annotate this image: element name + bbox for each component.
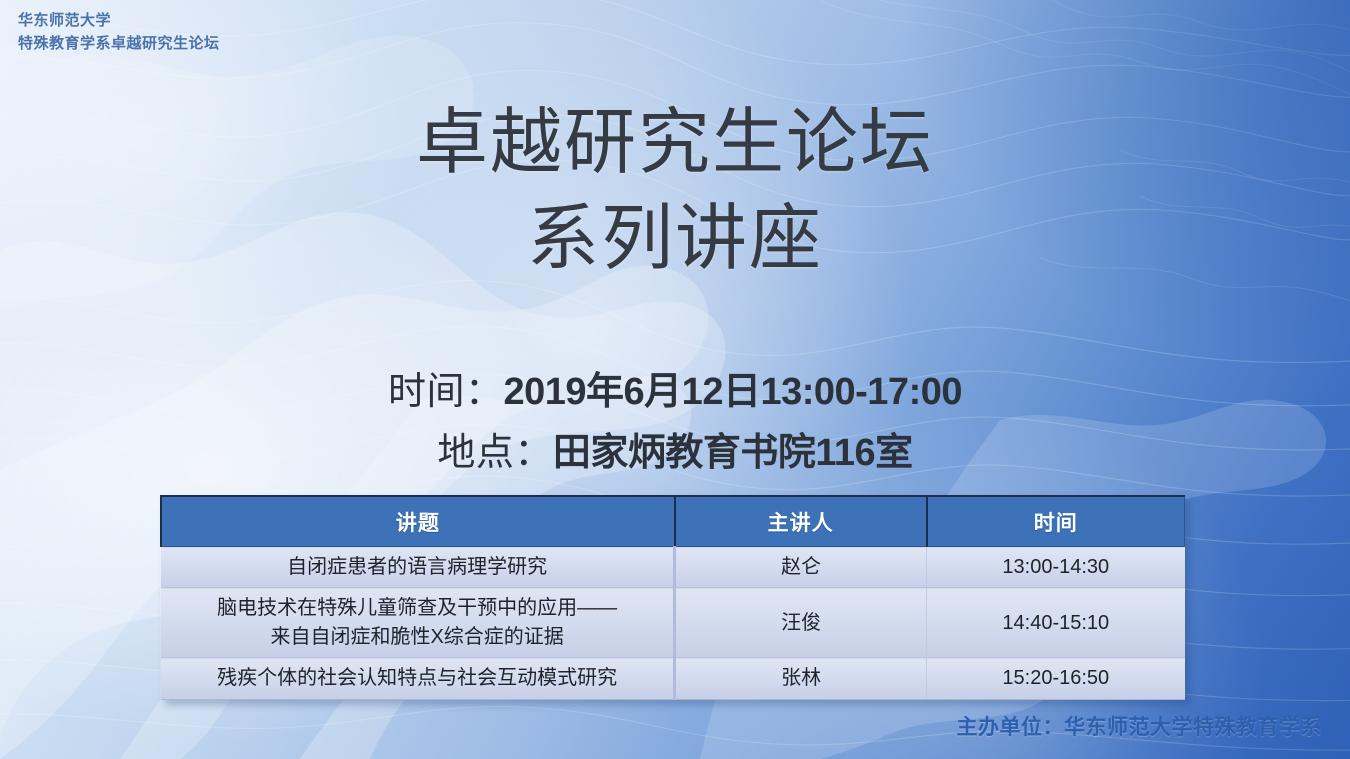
cell-time: 15:20-16:50 [927, 658, 1185, 699]
cell-topic: 脑电技术在特殊儿童筛查及干预中的应用—— 来自自闭症和脆性X综合症的证据 [161, 588, 675, 658]
presentation-slide: 华东师范大学 特殊教育学系卓越研究生论坛 卓越研究生论坛 系列讲座 时间：201… [0, 0, 1350, 759]
cell-speaker: 张林 [675, 658, 927, 699]
org-department-forum: 特殊教育学系卓越研究生论坛 [18, 32, 220, 55]
topic-line-1: 残疾个体的社会认知特点与社会互动模式研究 [169, 664, 665, 692]
event-place-value: 田家炳教育书院116室 [553, 432, 913, 474]
org-university-name: 华东师范大学 [18, 9, 220, 32]
event-time-label: 时间： [388, 371, 504, 413]
event-time-value: 2019年6月12日13:00-17:00 [504, 371, 962, 413]
page-title: 卓越研究生论坛 系列讲座 [0, 96, 1350, 288]
column-header-speaker: 主讲人 [675, 496, 927, 547]
cell-time: 13:00-14:30 [927, 547, 1185, 588]
table-header-row: 讲题 主讲人 时间 [161, 496, 1185, 547]
topic-line-2: 来自自闭症和脆性X综合症的证据 [169, 623, 665, 651]
title-line-1: 卓越研究生论坛 [0, 96, 1350, 192]
topic-line-1: 脑电技术在特殊儿童筛查及干预中的应用—— [169, 594, 665, 622]
schedule-table: 讲题 主讲人 时间 自闭症患者的语言病理学研究 赵仑 13:00-14:30 脑… [160, 495, 1185, 700]
event-time-row: 时间：2019年6月12日13:00-17:00 [0, 362, 1350, 423]
cell-topic: 自闭症患者的语言病理学研究 [161, 547, 675, 588]
table-row: 残疾个体的社会认知特点与社会互动模式研究 张林 15:20-16:50 [161, 658, 1185, 699]
cell-time: 14:40-15:10 [927, 588, 1185, 658]
event-place-row: 地点：田家炳教育书院116室 [0, 423, 1350, 484]
cell-topic: 残疾个体的社会认知特点与社会互动模式研究 [161, 658, 675, 699]
event-place-label: 地点： [437, 432, 553, 474]
table-row: 自闭症患者的语言病理学研究 赵仑 13:00-14:30 [161, 547, 1185, 588]
table-row: 脑电技术在特殊儿童筛查及干预中的应用—— 来自自闭症和脆性X综合症的证据 汪俊 … [161, 588, 1185, 658]
schedule-table-container: 讲题 主讲人 时间 自闭症患者的语言病理学研究 赵仑 13:00-14:30 脑… [160, 495, 1185, 700]
topic-line-1: 自闭症患者的语言病理学研究 [169, 553, 665, 581]
organization-header: 华东师范大学 特殊教育学系卓越研究生论坛 [18, 9, 220, 56]
column-header-topic: 讲题 [161, 496, 675, 547]
title-line-2: 系列讲座 [0, 192, 1350, 288]
cell-speaker: 赵仑 [675, 547, 927, 588]
cell-speaker: 汪俊 [675, 588, 927, 658]
column-header-time: 时间 [927, 496, 1185, 547]
organizer-footer: 主办单位：华东师范大学特殊教育学系 [957, 711, 1323, 741]
event-info: 时间：2019年6月12日13:00-17:00 地点：田家炳教育书院116室 [0, 362, 1350, 484]
